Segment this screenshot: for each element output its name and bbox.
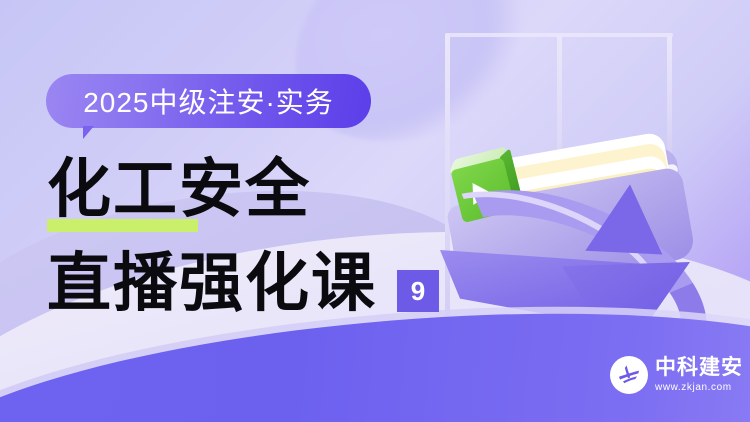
zkjan-circle-logo-icon <box>610 356 648 394</box>
episode-number-label: 9 <box>411 276 425 307</box>
course-category-label: 2025中级注安·实务 <box>83 81 334 121</box>
brand-logo[interactable]: 中科建安 www.zkjan.com <box>610 356 743 394</box>
brand-name-cn: 中科建安 <box>655 357 743 378</box>
banner-title-line-2: 直播强化课 <box>47 252 377 316</box>
badge-tail-pointer <box>83 126 105 139</box>
brand-website: www.zkjan.com <box>655 383 743 393</box>
episode-number-badge: 9 <box>397 270 439 312</box>
brand-logo-text: 中科建安 www.zkjan.com <box>655 357 743 393</box>
course-category-badge: 2025中级注安·实务 <box>46 74 371 128</box>
banner-title-line-1: 化工安全 <box>47 158 311 222</box>
banner-canvas: 2025中级注安·实务 化工安全 直播强化课 9 中科建安 www.zkjan.… <box>0 0 750 422</box>
panel-line-3 <box>667 36 672 166</box>
